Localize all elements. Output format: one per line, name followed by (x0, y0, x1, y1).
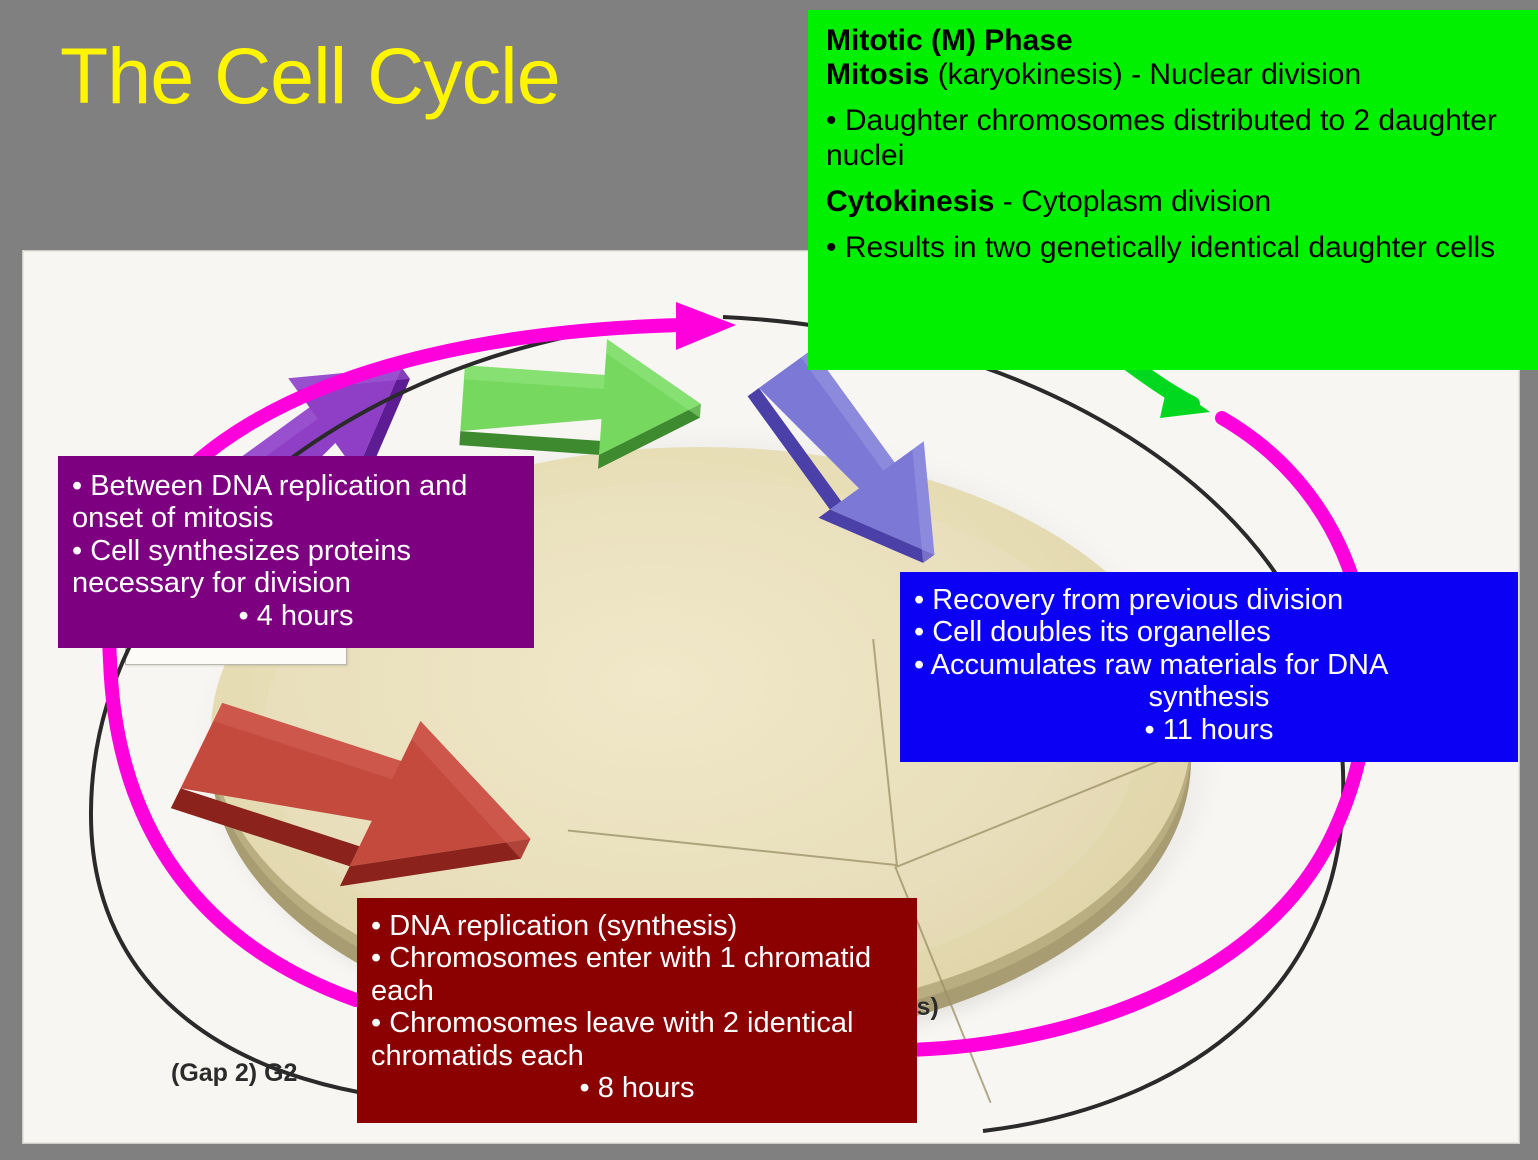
cytokinesis-term: Cytokinesis (826, 185, 994, 218)
slide-canvas: The Cell Cycle (Mitosis) M (Gap 2) G2 G1… (0, 0, 1538, 1160)
g1-line-2: • Cell doubles its organelles (914, 616, 1504, 648)
g1-line-3b: synthesis (914, 681, 1504, 713)
mitosis-definition: Mitosis (karyokinesis) - Nuclear divisio… (826, 58, 1522, 92)
cytokinesis-rest: - Cytoplasm division (994, 185, 1271, 218)
mitotic-bullet-2: • Results in two genetically identical d… (826, 231, 1522, 265)
s-line-1: • DNA replication (synthesis) (371, 910, 903, 942)
s-duration: • 8 hours (371, 1072, 903, 1104)
mitosis-rest: (karyokinesis) - Nuclear division (929, 58, 1361, 91)
mitotic-heading: Mitotic (M) Phase (826, 24, 1522, 58)
cytokinesis-definition: Cytokinesis - Cytoplasm division (826, 185, 1522, 219)
g2-line-1: • Between DNA replication and onset of m… (72, 470, 520, 535)
page-title: The Cell Cycle (60, 36, 560, 115)
callout-s-phase: • DNA replication (synthesis) • Chromoso… (357, 898, 917, 1123)
g1-line-1: • Recovery from previous division (914, 584, 1504, 616)
callout-g1-phase: • Recovery from previous division • Cell… (900, 572, 1518, 762)
mitosis-term: Mitosis (826, 58, 929, 91)
mitotic-bullet-1: • Daughter chromosomes distributed to 2 … (826, 104, 1522, 172)
callout-mitotic-phase: Mitotic (M) Phase Mitosis (karyokinesis)… (808, 10, 1538, 370)
g1-line-3: • Accumulates raw materials for DNA (914, 649, 1504, 681)
g2-line-2: • Cell synthesizes proteins necessary fo… (72, 535, 520, 600)
s-line-2: • Chromosomes enter with 1 chromatid eac… (371, 942, 903, 1007)
callout-g2-phase: • Between DNA replication and onset of m… (58, 456, 534, 648)
g2-duration: • 4 hours (72, 600, 520, 632)
s-line-3: • Chromosomes leave with 2 identical chr… (371, 1007, 903, 1072)
g1-duration: • 11 hours (914, 714, 1504, 746)
